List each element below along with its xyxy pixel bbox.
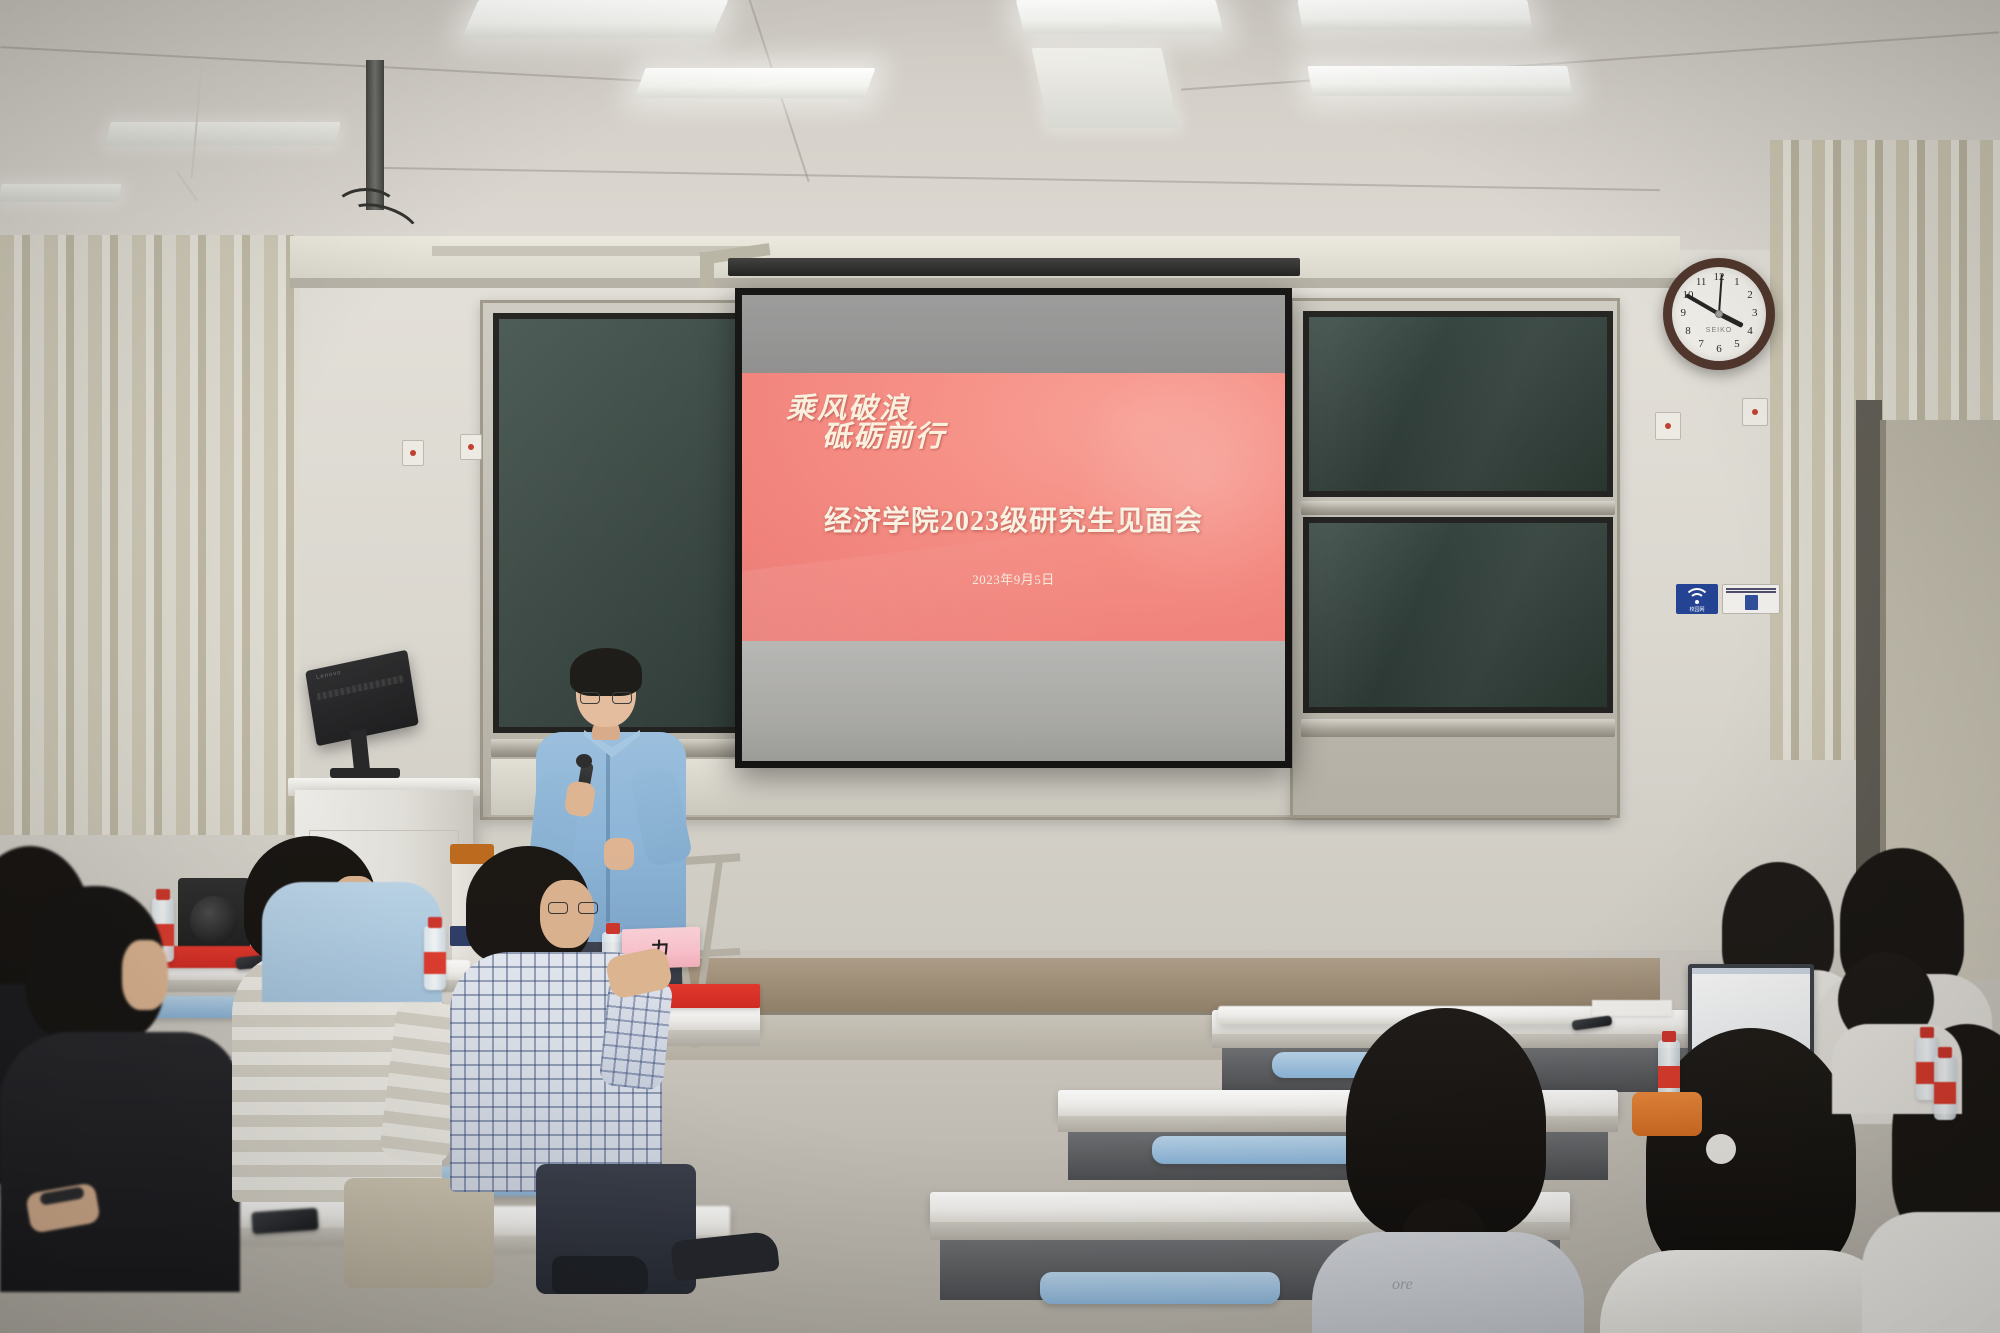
monitor-brand-label: Lenovo — [316, 670, 342, 681]
notice-sign — [1722, 584, 1780, 614]
blackboard-glare — [1309, 523, 1607, 707]
student-lower-body — [344, 1178, 494, 1288]
slide-calligraphy-line2: 砥砺前行 — [786, 423, 1036, 453]
clock-numeral: 11 — [1693, 276, 1709, 290]
wall-panel-left — [0, 235, 300, 835]
ceiling-light — [1031, 48, 1178, 128]
notice-sign-line — [1726, 588, 1776, 590]
student-torso — [262, 882, 442, 1002]
wifi-sign: 校园网 — [1676, 584, 1718, 614]
blackboard-glare — [1309, 317, 1607, 491]
clock-numeral: 3 — [1747, 307, 1763, 321]
outlet-plate[interactable] — [1742, 398, 1768, 426]
notice-sign-pictogram — [1745, 595, 1758, 610]
backpack — [1632, 1092, 1702, 1136]
chalk-rail — [1301, 501, 1615, 515]
chair-backrest — [1040, 1272, 1280, 1304]
presentation-slide: 乘风破浪 砥砺前行 经济学院2023级研究生见面会 2023年9月5日 — [742, 373, 1285, 641]
slide-date: 2023年9月5日 — [742, 569, 1285, 588]
student-head — [122, 940, 168, 1010]
ceiling-light — [0, 184, 122, 202]
wifi-sign-label: 校园网 — [1676, 606, 1718, 613]
wall-soffit-edge — [290, 278, 1680, 288]
ceiling-light — [1307, 66, 1572, 96]
screen-roller-housing — [728, 258, 1300, 276]
student-torso — [1600, 1250, 1900, 1333]
clock-numeral: 1 — [1729, 276, 1745, 290]
shirt-graphic: ore — [1392, 1276, 1413, 1294]
student-shoe — [552, 1256, 648, 1294]
speaker-cone — [190, 896, 238, 944]
laptop-titlebar — [1692, 968, 1810, 974]
clock-numeral: 12 — [1711, 271, 1727, 285]
ceiling-light — [1297, 0, 1532, 30]
clock-numeral: 9 — [1675, 307, 1691, 321]
student-torso — [1862, 1212, 2000, 1333]
clock-numeral: 7 — [1693, 338, 1709, 352]
student-head — [540, 880, 594, 948]
glasses-icon — [580, 692, 632, 704]
monitor-bezel-strip — [317, 675, 404, 700]
notice-sign-line — [1726, 591, 1776, 593]
water-bottle — [1934, 1056, 1956, 1120]
presenter-shirt-placket — [606, 752, 610, 922]
slide-title: 经济学院2023级研究生见面会 — [742, 499, 1285, 539]
outlet-plate[interactable] — [1655, 412, 1681, 440]
clock-numeral: 5 — [1729, 338, 1745, 352]
ceiling-light — [1016, 0, 1224, 34]
clock-numeral: 2 — [1742, 289, 1758, 303]
presenter-hair — [570, 648, 642, 696]
smartphone[interactable] — [251, 1208, 318, 1235]
chair-backrest — [1152, 1136, 1372, 1164]
student-torso — [0, 1032, 240, 1292]
slide-calligraphy: 乘风破浪 砥砺前行 — [786, 395, 1036, 452]
clock-center-pin — [1715, 310, 1723, 318]
wall-clock: 12 1 2 3 4 5 6 7 8 9 10 11 SEIKO — [1663, 258, 1775, 370]
microphone-head — [576, 754, 592, 768]
presenter-right-hand — [604, 838, 634, 870]
hair-tie — [1706, 1134, 1736, 1164]
glasses-icon — [548, 902, 598, 914]
monitor-base — [330, 768, 400, 778]
light-switch-plate[interactable] — [460, 434, 482, 460]
water-bottle — [424, 926, 446, 990]
light-switch-plate[interactable] — [402, 440, 424, 466]
clock-numeral: 6 — [1711, 343, 1727, 357]
projection-screen: 乘风破浪 砥砺前行 经济学院2023级研究生见面会 2023年9月5日 — [735, 288, 1292, 768]
paper-sheet — [1592, 1000, 1672, 1016]
wifi-icon-dot — [1695, 600, 1699, 604]
ceiling-light — [462, 0, 729, 38]
blackboard-frame-right — [1290, 298, 1620, 818]
blackboard-surface-right-lower — [1303, 517, 1613, 713]
student-torso — [1312, 1232, 1584, 1333]
ceiling-light — [635, 68, 876, 98]
screen-top-band — [742, 295, 1285, 373]
blackboard-surface-right-upper — [1303, 311, 1613, 497]
screen-bottom-band — [742, 641, 1285, 761]
classroom-photo: 12 1 2 3 4 5 6 7 8 9 10 11 SEIKO 校园网 — [0, 0, 2000, 1333]
clock-brand: SEIKO — [1672, 327, 1766, 334]
ceiling-light — [105, 122, 340, 146]
chalk-rail — [1301, 719, 1615, 737]
